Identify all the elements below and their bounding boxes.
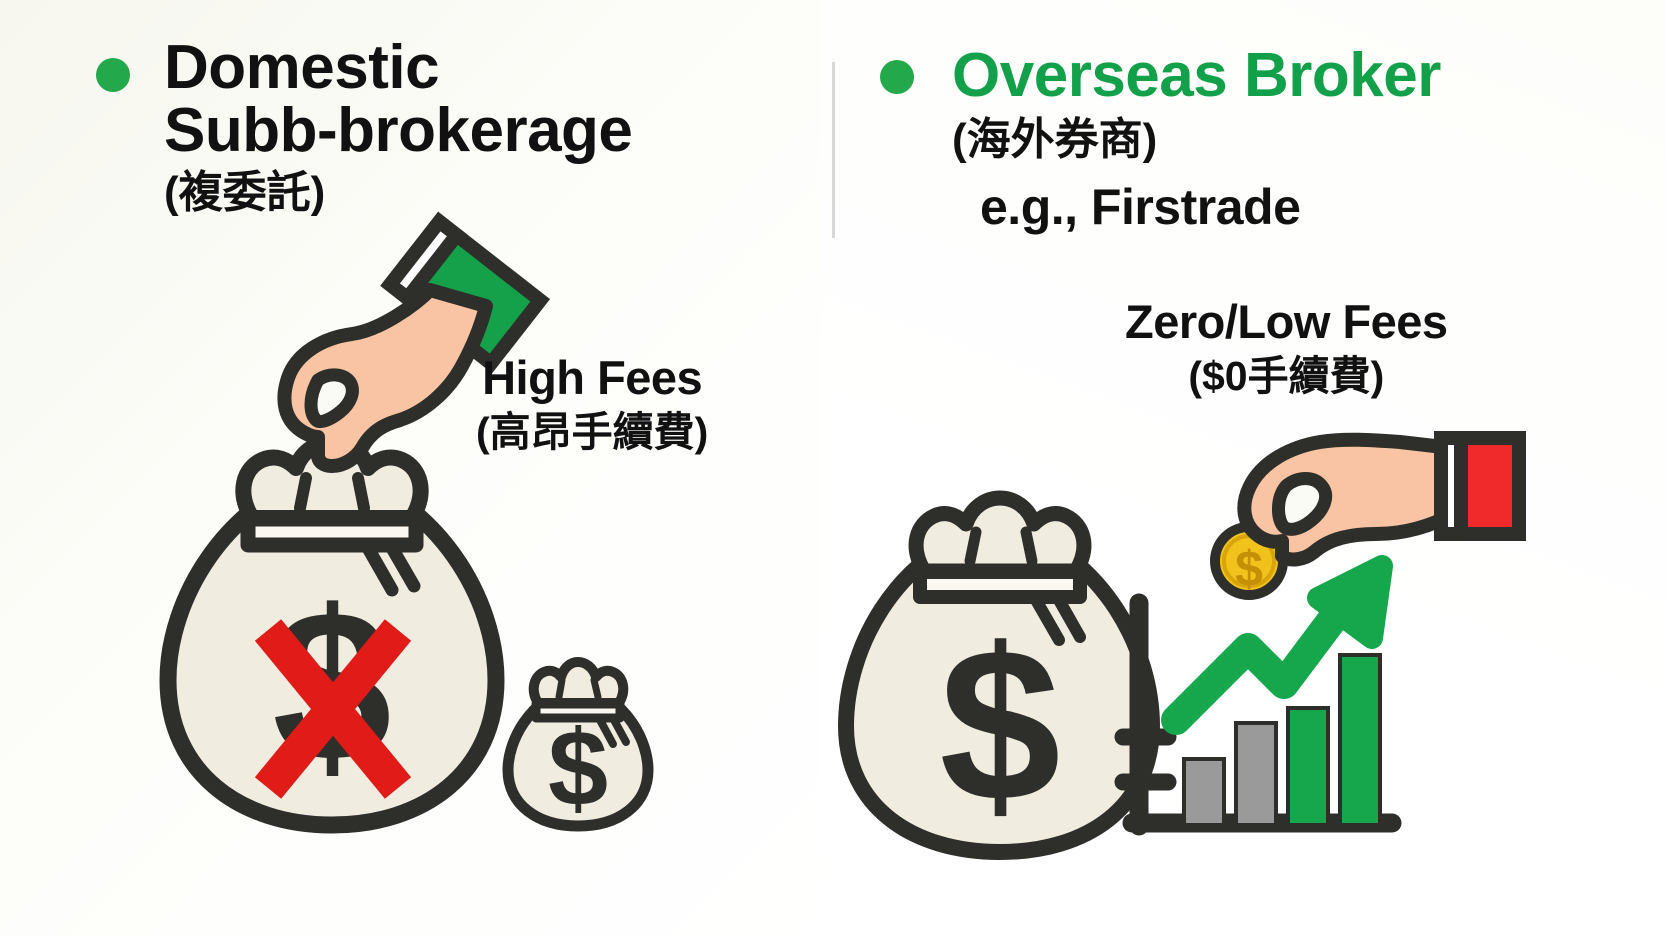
money-bag-small-icon: $ bbox=[508, 662, 648, 828]
left-fee-callout: High Fees (高昂手續費) bbox=[476, 352, 708, 457]
right-title-example: e.g., Firstrade bbox=[980, 178, 1441, 236]
column-divider bbox=[832, 62, 835, 238]
left-title-subtitle: (複委託) bbox=[164, 168, 632, 219]
bar-1 bbox=[1184, 759, 1224, 825]
right-column-heading: Overseas Broker (海外券商) e.g., Firstrade bbox=[880, 44, 1441, 236]
hand-holding-coin-icon bbox=[1244, 438, 1519, 559]
right-fee-callout: Zero/Low Fees ($0手續費) bbox=[1125, 296, 1448, 401]
money-bag-large-icon-right: $ bbox=[846, 498, 1152, 852]
bar-4 bbox=[1340, 655, 1380, 825]
right-bullet-icon bbox=[880, 60, 914, 94]
right-fee-label-cn: ($0手續費) bbox=[1125, 352, 1448, 401]
coin-dollar-symbol: $ bbox=[1235, 541, 1263, 597]
bar-2 bbox=[1236, 723, 1276, 825]
left-fee-label: High Fees bbox=[476, 352, 708, 404]
red-sleeve-cuff bbox=[1441, 438, 1519, 534]
left-fee-label-cn: (高昂手續費) bbox=[476, 408, 708, 457]
left-bullet-icon bbox=[96, 58, 130, 92]
right-title-subtitle: (海外券商) bbox=[952, 115, 1441, 166]
money-bag-large-icon: $ bbox=[168, 442, 496, 825]
left-title-line2: Subb-brokerage bbox=[164, 99, 632, 162]
right-fee-label: Zero/Low Fees bbox=[1125, 296, 1448, 348]
right-title-line1: Overseas Broker bbox=[952, 44, 1441, 107]
infographic-slide: Domestic Subb-brokerage (複委託) Overseas B… bbox=[0, 0, 1666, 937]
left-title-line1: Domestic bbox=[164, 36, 632, 99]
bar-3 bbox=[1288, 708, 1328, 825]
dollar-symbol-right: $ bbox=[939, 604, 1060, 847]
left-column-heading: Domestic Subb-brokerage (複委託) bbox=[96, 36, 632, 219]
dollar-symbol-small: $ bbox=[548, 707, 608, 828]
